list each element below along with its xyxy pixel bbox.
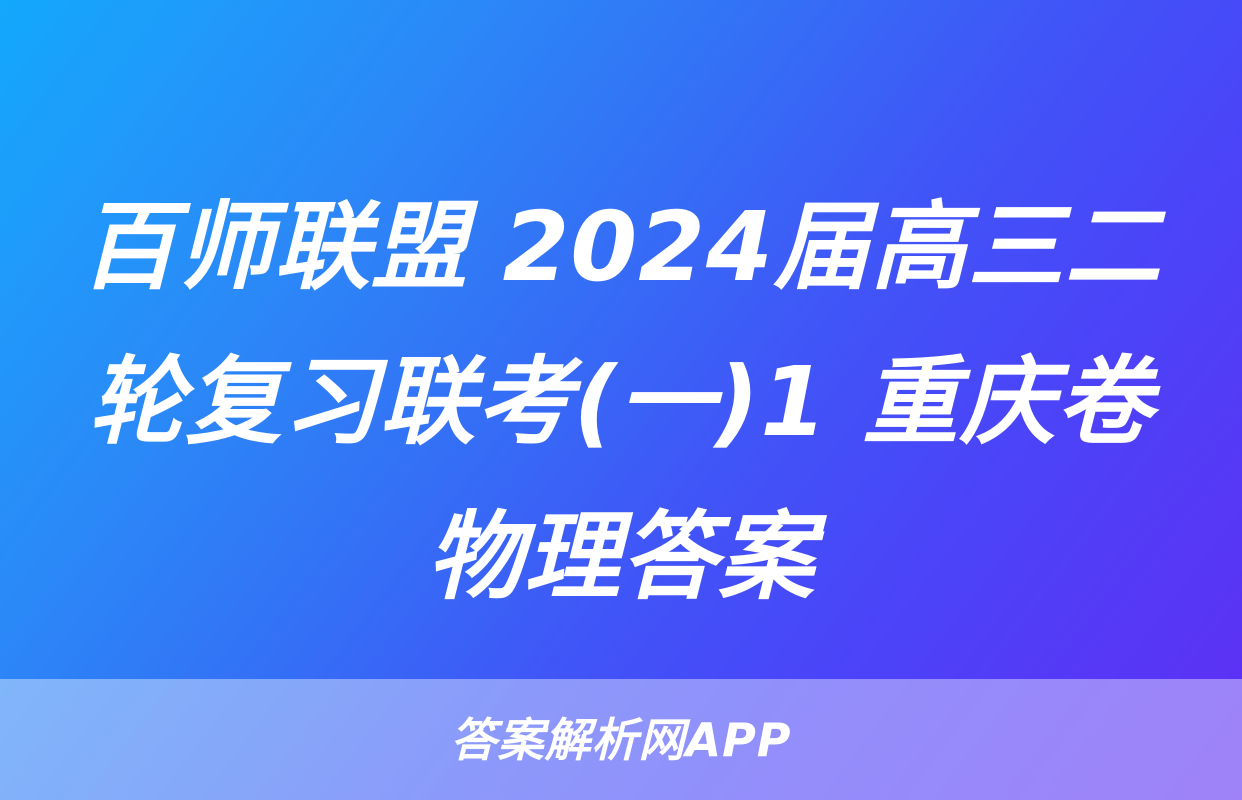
page-title: 百师联盟 2024届高三二 轮复习联考(一)1 重庆卷 物理答案 [0,170,1242,635]
watermark-app-label: 答案解析网APP [450,717,791,763]
watermark-band: 答案解析网APP [0,679,1242,800]
title-line-3: 物理答案 [42,480,1200,635]
poster-canvas: 百师联盟 2024届高三二 轮复习联考(一)1 重庆卷 物理答案 答案解析网AP… [0,0,1242,800]
title-line-2: 轮复习联考(一)1 重庆卷 [42,325,1200,480]
title-line-1: 百师联盟 2024届高三二 [42,170,1200,325]
